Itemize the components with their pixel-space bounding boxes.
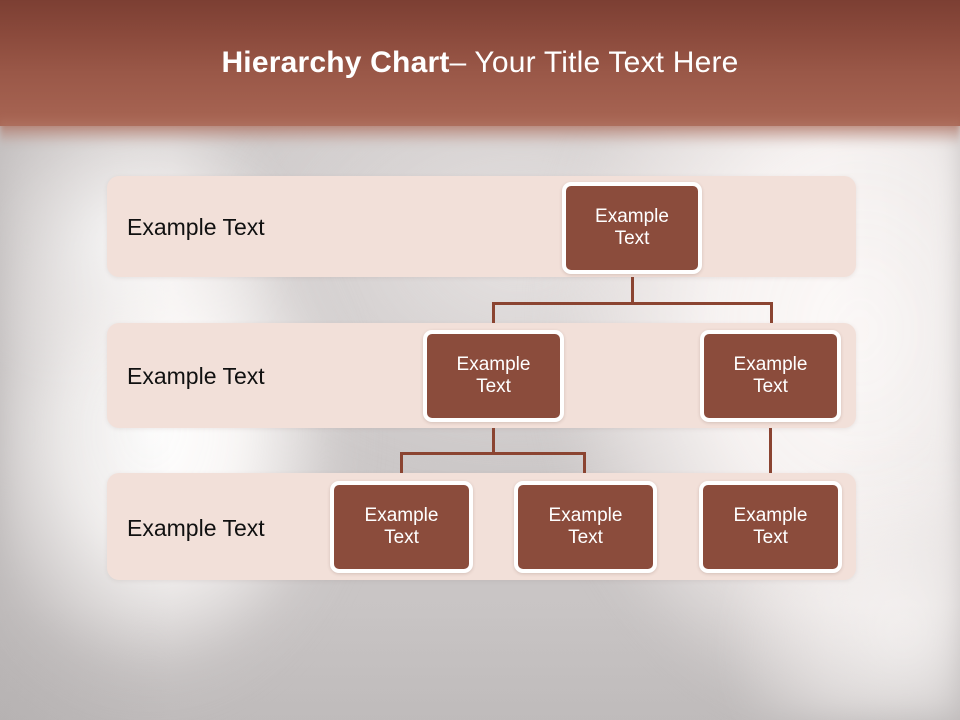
hierarchy-row-label: Example Text <box>127 363 265 390</box>
hierarchy-node-text: ExampleText <box>549 505 623 550</box>
hierarchy-node-text: ExampleText <box>734 505 808 550</box>
hierarchy-node[interactable]: ExampleText <box>330 481 473 573</box>
hierarchy-node-line2: Text <box>734 376 808 398</box>
slide-canvas: Hierarchy Chart – Your Title Text Here E… <box>0 0 960 720</box>
hierarchy-node[interactable]: ExampleText <box>700 330 841 422</box>
page-title-rest: – Your Title Text Here <box>450 46 739 80</box>
hierarchy-node-line2: Text <box>595 228 669 250</box>
hierarchy-node-line2: Text <box>734 527 808 549</box>
connector-line <box>400 452 586 455</box>
hierarchy-node-line2: Text <box>549 527 623 549</box>
hierarchy-node-text: ExampleText <box>595 206 669 251</box>
hierarchy-node-line2: Text <box>457 376 531 398</box>
hierarchy-node-line1: Example <box>549 505 623 527</box>
connector-line <box>631 274 634 304</box>
hierarchy-row-label: Example Text <box>127 214 265 241</box>
page-title: Hierarchy Chart – Your Title Text Here <box>0 0 960 126</box>
hierarchy-node-line1: Example <box>457 354 531 376</box>
connector-line <box>492 302 773 305</box>
hierarchy-node[interactable]: ExampleText <box>699 481 842 573</box>
hierarchy-row-label: Example Text <box>127 515 265 542</box>
hierarchy-node[interactable]: ExampleText <box>423 330 564 422</box>
hierarchy-node-line2: Text <box>365 527 439 549</box>
hierarchy-node-text: ExampleText <box>365 505 439 550</box>
hierarchy-node-line1: Example <box>734 505 808 527</box>
hierarchy-node-line1: Example <box>595 206 669 228</box>
hierarchy-node-text: ExampleText <box>734 354 808 399</box>
page-title-strong: Hierarchy Chart <box>221 46 449 80</box>
hierarchy-node[interactable]: ExampleText <box>514 481 657 573</box>
hierarchy-node-line1: Example <box>734 354 808 376</box>
hierarchy-node-line1: Example <box>365 505 439 527</box>
hierarchy-node[interactable]: ExampleText <box>562 182 702 274</box>
hierarchy-node-text: ExampleText <box>457 354 531 399</box>
